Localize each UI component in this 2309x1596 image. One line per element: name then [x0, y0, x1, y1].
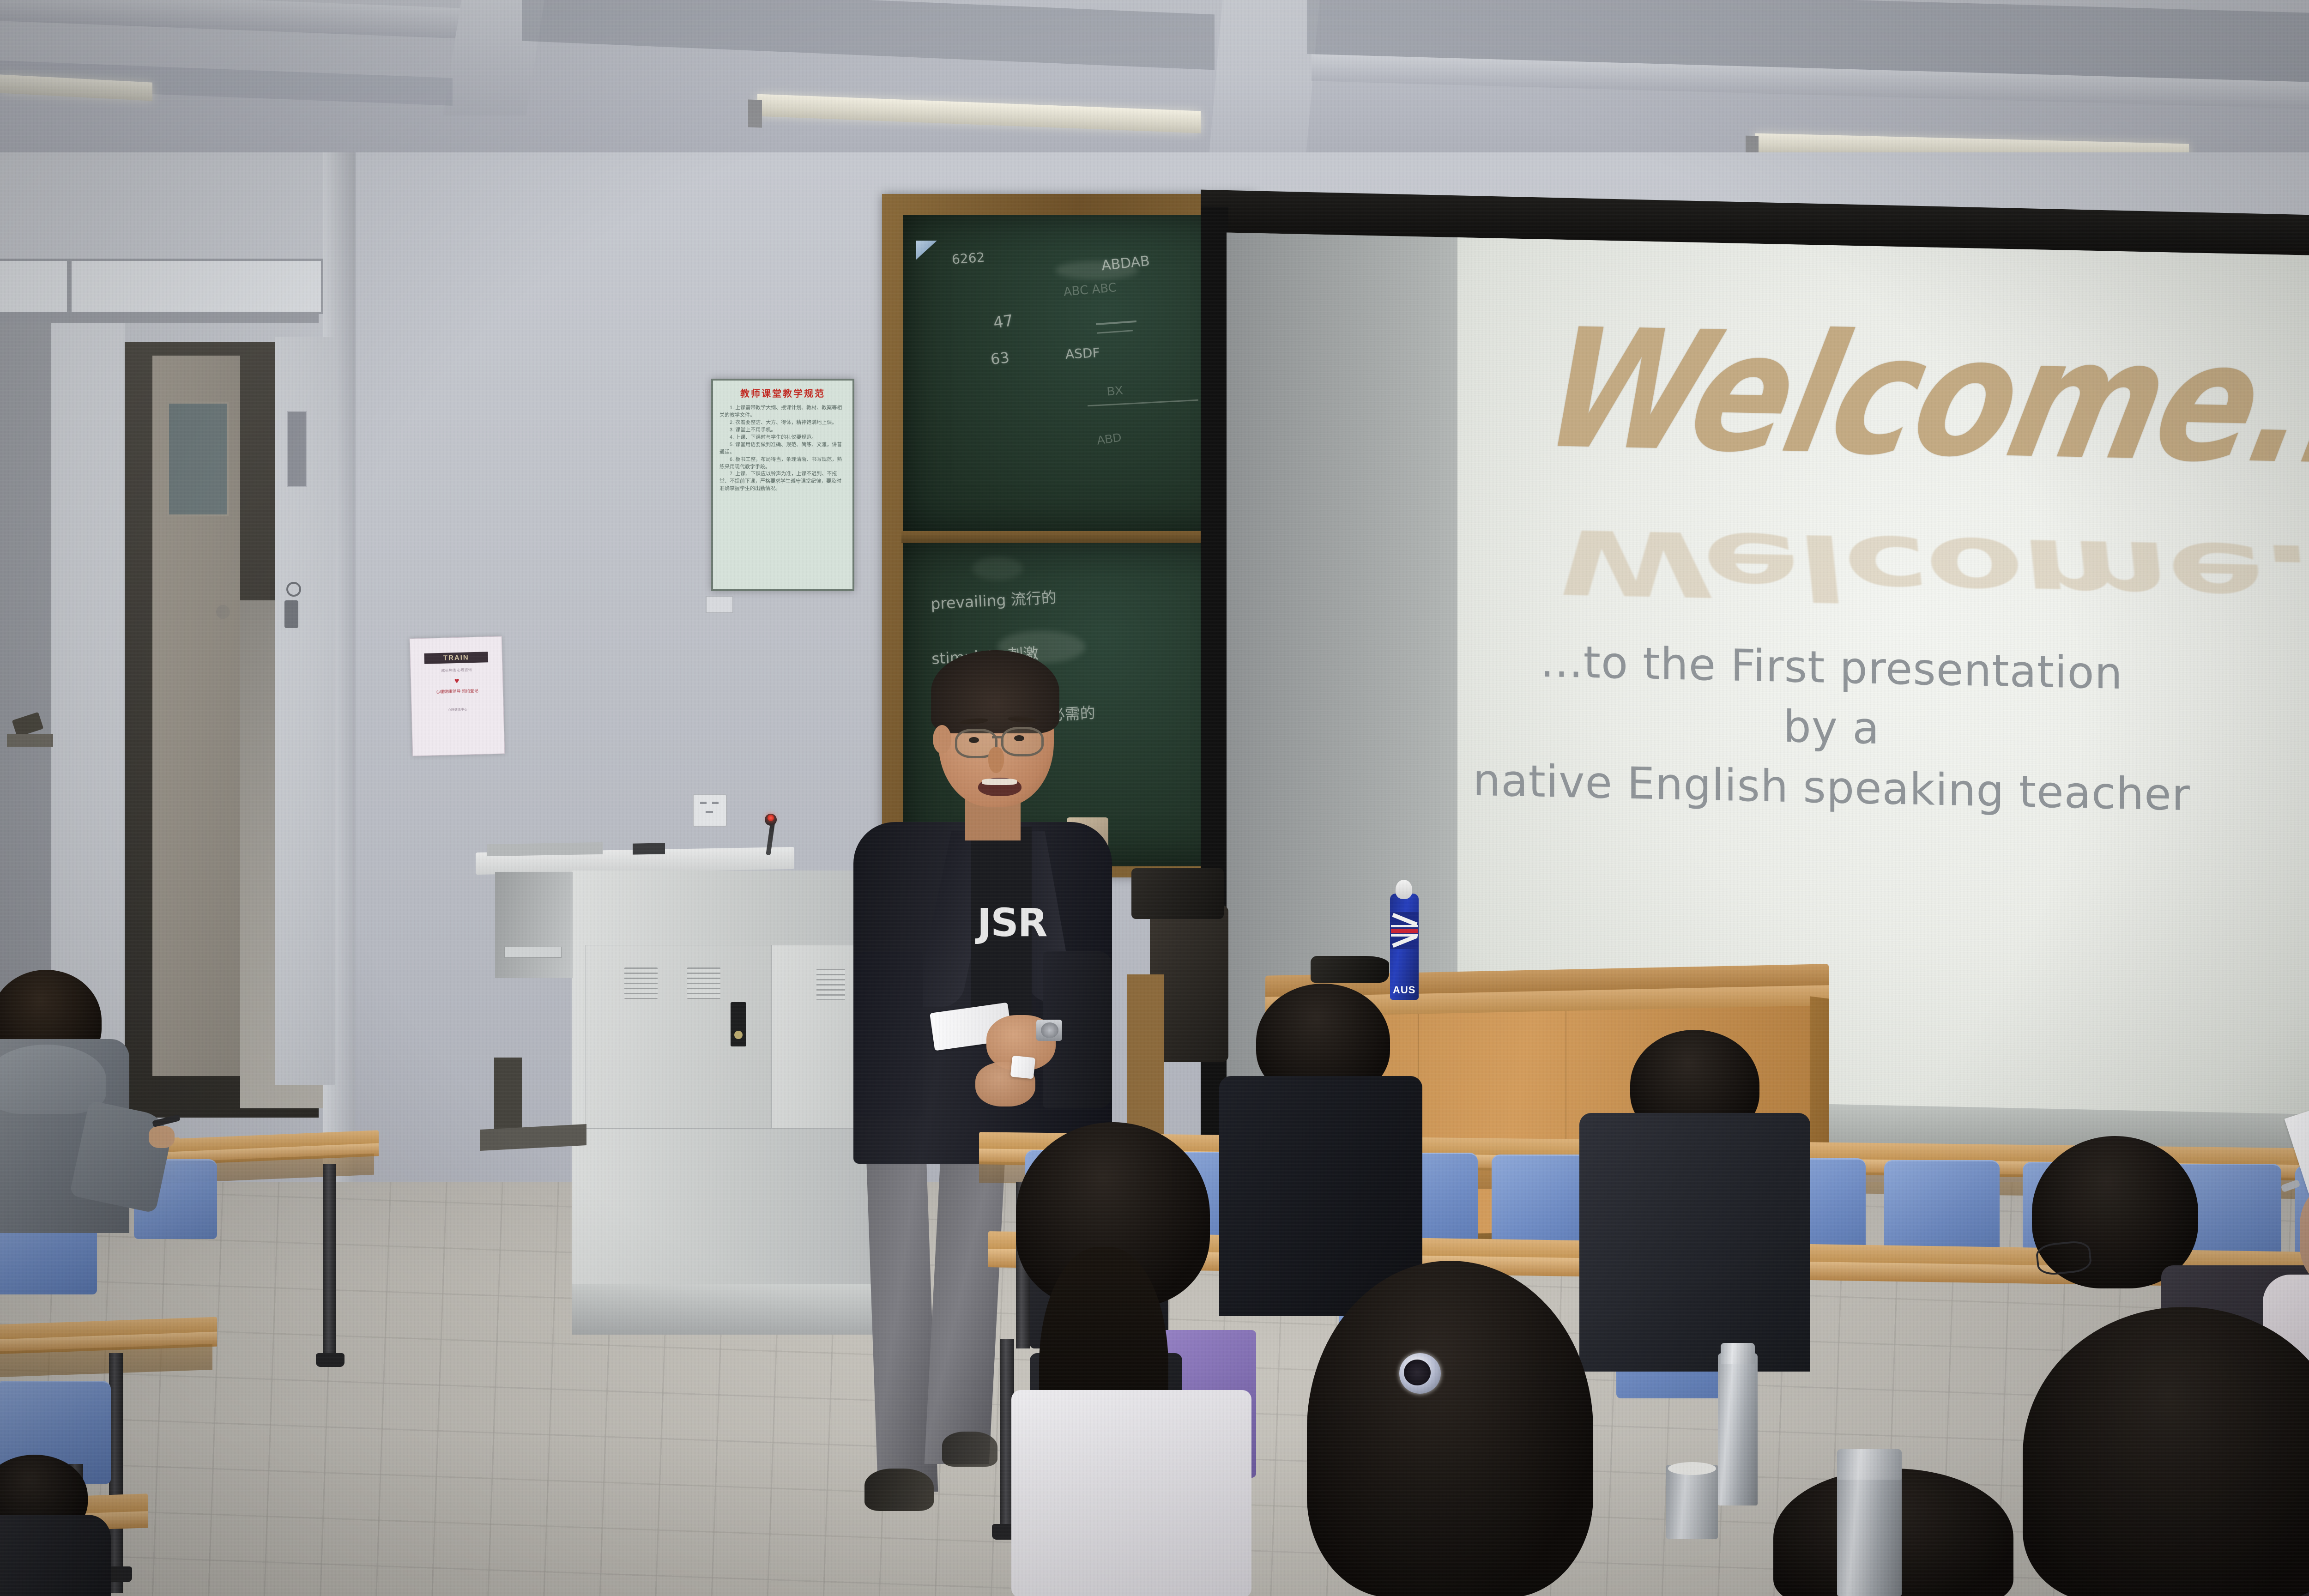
poster-rule: 2. 衣着要整洁、大方、得体，精神饱满地上课。	[719, 419, 846, 427]
presenter-glasses-right	[1001, 727, 1044, 756]
presenter-eye	[969, 737, 979, 743]
water-bottle[interactable]: AUS	[1390, 894, 1419, 1000]
chalk-tray	[901, 531, 1243, 543]
podium-base	[572, 1284, 881, 1335]
vent-grille	[624, 967, 658, 999]
side-chair-leg	[1127, 974, 1164, 1136]
psychology-flyer: TRAIN 成长热线 心理咨询 ♥ 心理健康辅导 预约登记 心理健康中心	[410, 636, 505, 756]
thermos-flask[interactable]	[1718, 1353, 1758, 1505]
watch-face	[1041, 1022, 1058, 1038]
presenter-nose	[988, 747, 1004, 773]
desk-leg	[109, 1353, 123, 1593]
shirt-graphic: JSR	[977, 905, 1046, 941]
presenter-eye	[1014, 735, 1024, 741]
door-pull-ring[interactable]	[286, 582, 301, 597]
desk-foot	[316, 1353, 345, 1367]
chalk-text: BX	[1106, 383, 1124, 399]
student-hair-foreground	[1307, 1261, 1593, 1596]
poster-rule: 5. 课堂用语要做到准确、规范、简练、文雅，讲普通话。	[719, 441, 846, 456]
transom-window	[0, 259, 69, 314]
student-hand	[149, 1126, 175, 1148]
flyer-header: TRAIN	[424, 652, 489, 664]
thermos-cup-lip	[1668, 1462, 1716, 1475]
flyer-line: 心理健康辅导 预约登记	[414, 688, 500, 696]
student-body	[0, 1515, 111, 1596]
chalk-text: ABDAB	[1100, 253, 1150, 274]
chalk-text: 63	[990, 349, 1010, 368]
podium-keyboard-tray	[504, 947, 562, 958]
poster-rule: 7. 上课、下课应以铃声为准，上课不迟到、不拖堂、不提前下课，严格要求学生遵守课…	[719, 471, 846, 493]
student-body	[1579, 1113, 1810, 1372]
slide-title: Welcome...	[1532, 308, 2309, 490]
bottle-cap[interactable]	[1396, 880, 1412, 899]
transom-window	[69, 259, 323, 314]
desk-leg	[323, 1164, 336, 1358]
vent-grille	[816, 969, 845, 1000]
chalk-text: 47	[992, 311, 1014, 332]
poster-rule: 1. 上课需带教学大纲、授课计划、教材、教案等相关的教学文件。	[719, 405, 846, 419]
hair-clip-center	[1404, 1360, 1431, 1385]
chalk-text: ABD	[1096, 430, 1122, 447]
thermos-cap[interactable]	[1837, 1449, 1902, 1480]
podium-top-rear	[487, 842, 603, 856]
flyer-line: 成长热线 心理咨询	[413, 667, 499, 675]
presenter-arm-left	[853, 951, 923, 1118]
chalk-text: 6262	[951, 250, 985, 267]
dark-object-on-desk	[1311, 956, 1389, 983]
door-lock[interactable]	[284, 600, 298, 628]
podium-lock[interactable]	[731, 1002, 746, 1046]
teaching-standards-poster: 教师课堂教学规范 1. 上课需带教学大纲、授课计划、教材、教案等相关的教学文件。…	[711, 379, 854, 591]
door-knob[interactable]	[216, 605, 230, 619]
presenter-hair	[931, 650, 1059, 733]
presenter-teeth	[982, 779, 1017, 785]
wall-bracket	[7, 734, 53, 747]
thermos-cup[interactable]	[1666, 1465, 1718, 1539]
flyer-footer: 心理健康中心	[415, 707, 501, 713]
chalk-text: ASDF	[1065, 345, 1100, 362]
thermos-cap[interactable]	[1721, 1343, 1755, 1364]
chalk-vocab: prevailing 流行的	[930, 585, 1057, 614]
glasses-bridge	[992, 736, 1002, 738]
classroom-photo: 教师课堂教学规范 1. 上课需带教学大纲、授课计划、教材、教案等相关的教学文件。…	[0, 0, 2309, 1596]
door-window	[167, 402, 229, 516]
chalk-text: ABC ABC	[1063, 281, 1117, 299]
poster-rule: 6. 板书工整，布局得当，条理清晰、书写规范，熟练采用现代教学手段。	[719, 456, 846, 471]
poster-rule: 4. 上课、下课时与学生的礼仪要规范。	[719, 434, 846, 441]
podium-shelf	[495, 872, 573, 978]
poster-title: 教师课堂教学规范	[719, 389, 846, 399]
wall-switch[interactable]	[706, 596, 733, 613]
slide-title-reflection: Welcome...	[1546, 516, 2309, 623]
student-white-coat	[1011, 1390, 1251, 1596]
presenter-shoe-left	[864, 1469, 934, 1511]
presenter-ear	[933, 725, 951, 754]
jacket-on-chair	[1131, 868, 1224, 919]
board-corner-clip	[916, 241, 937, 260]
presenter-papers-tip	[1010, 1056, 1036, 1079]
lock-keyhole	[734, 1031, 743, 1039]
power-outlet[interactable]	[693, 794, 727, 827]
poster-rule: 3. 课堂上不用手机。	[719, 427, 846, 434]
bottle-label: AUS	[1393, 984, 1415, 996]
ceiling-light-cap	[748, 99, 762, 127]
microphone-led	[768, 815, 774, 821]
door-leaf-panel	[287, 411, 307, 487]
chalkboard-upper: 6262 ABDAB ABC ABC 47 63 ASDF BX ABD	[903, 215, 1240, 533]
podium-slot	[633, 843, 665, 854]
heart-icon: ♥	[414, 675, 500, 687]
presenter-shoe-right	[942, 1432, 997, 1467]
vent-grille	[687, 967, 720, 999]
